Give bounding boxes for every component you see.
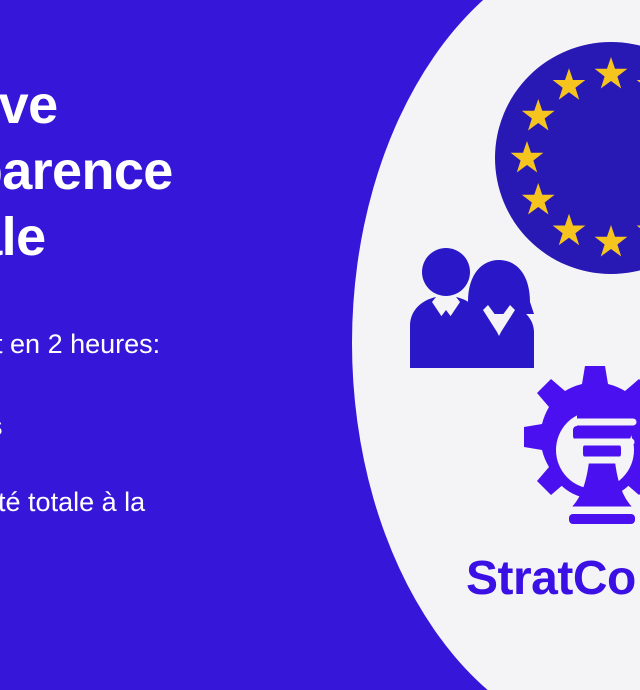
brand-logo: StratCo — [466, 551, 636, 606]
gear-chess-rook-icon — [513, 352, 640, 528]
slide-canvas: ective nsparence ariale complet en 2 heu… — [0, 0, 640, 690]
page-title: ective nsparence ariale — [0, 72, 348, 270]
lead-paragraph: complet en 2 heures: — [0, 327, 348, 361]
text-column: ective nsparence ariale complet en 2 heu… — [0, 0, 348, 690]
bullet-2-line-1: onformité totale à la — [0, 484, 358, 520]
headline-line-3: ariale — [0, 204, 348, 270]
headline-line-2: nsparence — [0, 138, 348, 204]
bullet-1-line-1: mplates — [0, 408, 358, 444]
bullet-list: mplates onformité totale à la n 2026 — [0, 408, 358, 556]
list-item: onformité totale à la n 2026 — [0, 484, 358, 556]
bullet-2-line-2: n 2026 — [0, 520, 358, 556]
list-item: mplates — [0, 408, 358, 444]
headline-line-1: ective — [0, 72, 348, 138]
